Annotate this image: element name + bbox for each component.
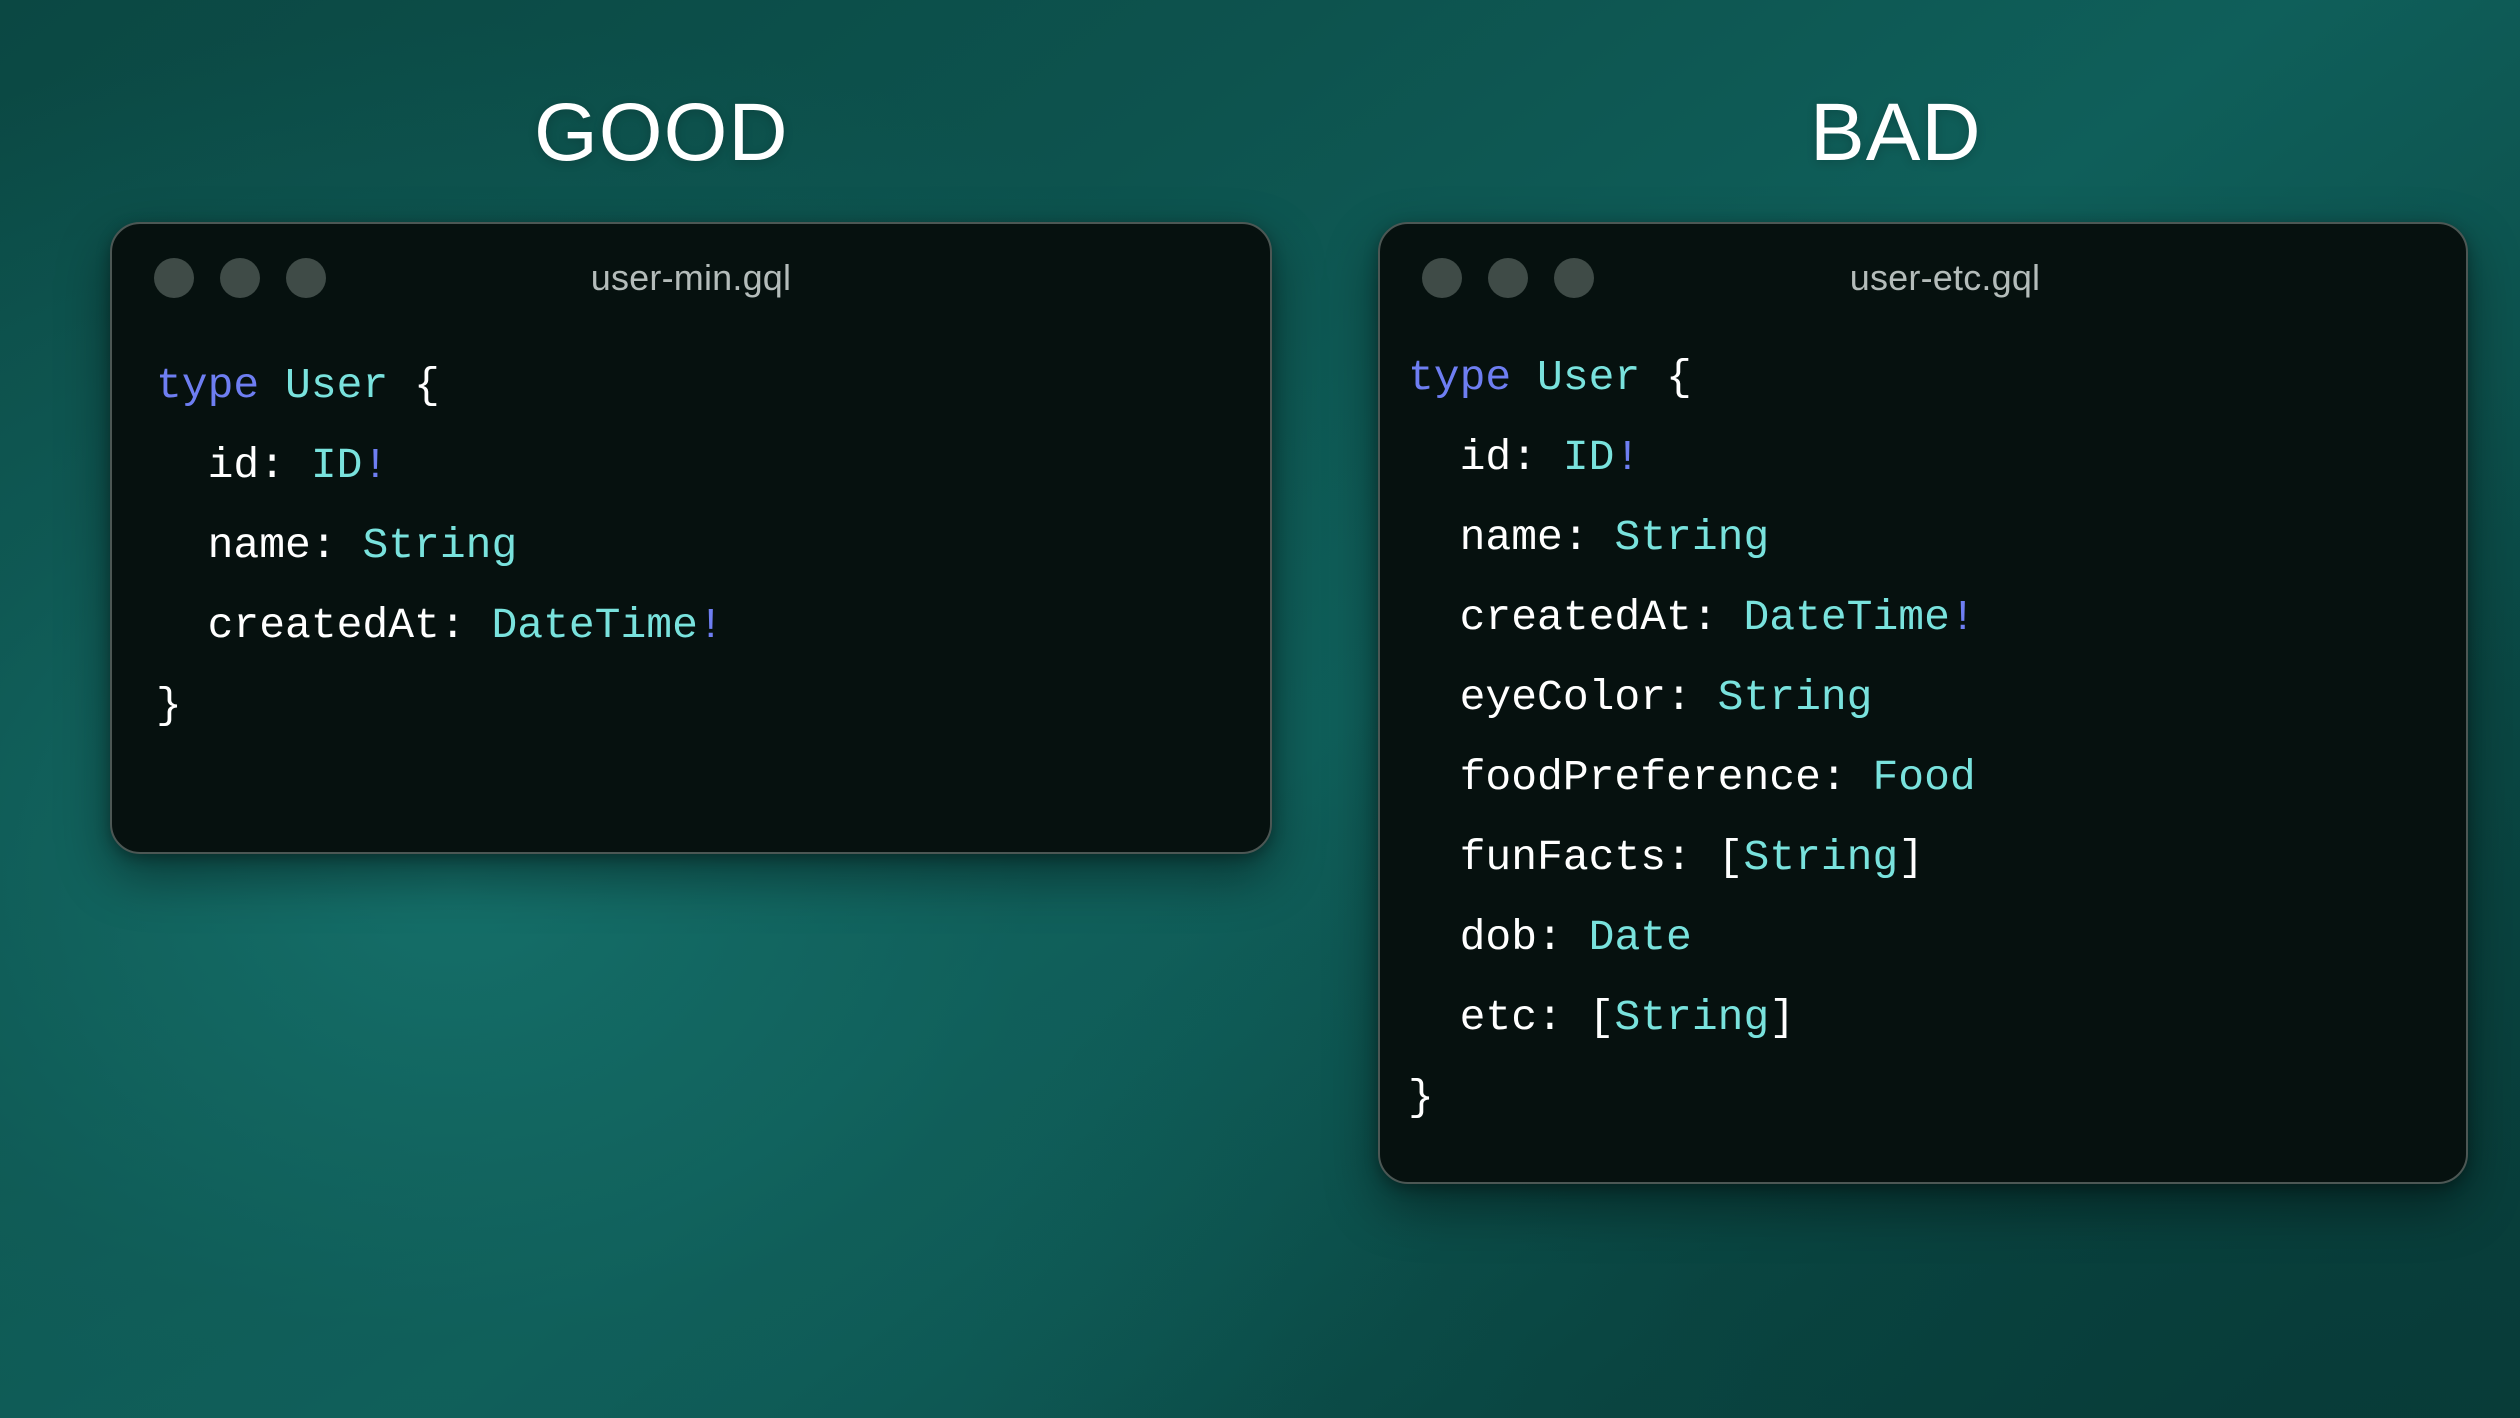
code-token-ty: String [1614, 993, 1769, 1042]
code-token-pn: { [1640, 353, 1692, 402]
traffic-light-red-icon[interactable] [1422, 258, 1462, 298]
code-token-bang: ! [1614, 433, 1640, 482]
code-token-bang: ! [362, 441, 388, 490]
code-token-pn: } [156, 681, 182, 730]
traffic-light-green-icon[interactable] [286, 258, 326, 298]
code-token-ty: ID [311, 441, 363, 490]
code-token-ty: String [1743, 833, 1898, 882]
code-token-ty: DateTime [1743, 593, 1949, 642]
traffic-light-yellow-icon[interactable] [220, 258, 260, 298]
traffic-light-dots [154, 258, 326, 298]
code-line: foodPreference: Food [1408, 738, 2466, 818]
code-token-ty: Date [1589, 913, 1692, 962]
traffic-light-green-icon[interactable] [1554, 258, 1594, 298]
code-line: name: String [156, 506, 1270, 586]
code-line: eyeColor: String [1408, 658, 2466, 738]
code-token-pn: } [1408, 1073, 1434, 1122]
code-token-pn: id: [156, 441, 311, 490]
code-line: name: String [1408, 498, 2466, 578]
code-token-ty: ID [1563, 433, 1615, 482]
code-token-pn: eyeColor: [1408, 673, 1718, 722]
comparison-stage: GOOD user-min.gql type User { id: ID! na… [0, 0, 2520, 1418]
window-titlebar: user-etc.gql [1380, 224, 2466, 332]
code-token-ty: Food [1872, 753, 1975, 802]
code-token-pn: { [388, 361, 440, 410]
code-token-pn: id: [1408, 433, 1563, 482]
code-token-pn: createdAt: [156, 601, 491, 650]
code-token-pn: createdAt: [1408, 593, 1743, 642]
code-token-pn: foodPreference: [1408, 753, 1872, 802]
window-titlebar: user-min.gql [112, 224, 1270, 332]
code-line: type User { [1408, 338, 2466, 418]
code-window-bad: user-etc.gql type User { id: ID! name: S… [1378, 222, 2468, 1184]
code-token-pn: etc: [ [1408, 993, 1614, 1042]
code-block-good: type User { id: ID! name: String created… [156, 346, 1270, 746]
traffic-light-yellow-icon[interactable] [1488, 258, 1528, 298]
code-token-pn: dob: [1408, 913, 1589, 962]
code-token-pn: name: [1408, 513, 1614, 562]
column-heading-good: GOOD [534, 92, 789, 174]
code-token-pn: name: [156, 521, 362, 570]
code-token-ty: User [1537, 353, 1640, 402]
code-token-ty: String [1614, 513, 1769, 562]
code-token-ty: String [1718, 673, 1873, 722]
code-window-good: user-min.gql type User { id: ID! name: S… [110, 222, 1272, 854]
code-line: id: ID! [156, 426, 1270, 506]
traffic-light-dots [1422, 258, 1594, 298]
column-heading-bad: BAD [1810, 92, 1982, 174]
code-line: etc: [String] [1408, 978, 2466, 1058]
code-line: funFacts: [String] [1408, 818, 2466, 898]
code-line: type User { [156, 346, 1270, 426]
code-line: } [1408, 1058, 2466, 1138]
code-token-kw: type [1408, 353, 1537, 402]
code-line: dob: Date [1408, 898, 2466, 978]
code-token-pn: ] [1898, 833, 1924, 882]
code-token-ty: User [285, 361, 388, 410]
code-line: createdAt: DateTime! [156, 586, 1270, 666]
traffic-light-red-icon[interactable] [154, 258, 194, 298]
code-line: id: ID! [1408, 418, 2466, 498]
code-token-ty: DateTime [491, 601, 697, 650]
code-line: } [156, 666, 1270, 746]
code-token-bang: ! [698, 601, 724, 650]
code-token-bang: ! [1950, 593, 1976, 642]
code-token-pn: funFacts: [ [1408, 833, 1743, 882]
code-token-ty: String [362, 521, 517, 570]
code-block-bad: type User { id: ID! name: String created… [1408, 338, 2466, 1138]
code-token-kw: type [156, 361, 285, 410]
code-line: createdAt: DateTime! [1408, 578, 2466, 658]
code-token-pn: ] [1769, 993, 1795, 1042]
